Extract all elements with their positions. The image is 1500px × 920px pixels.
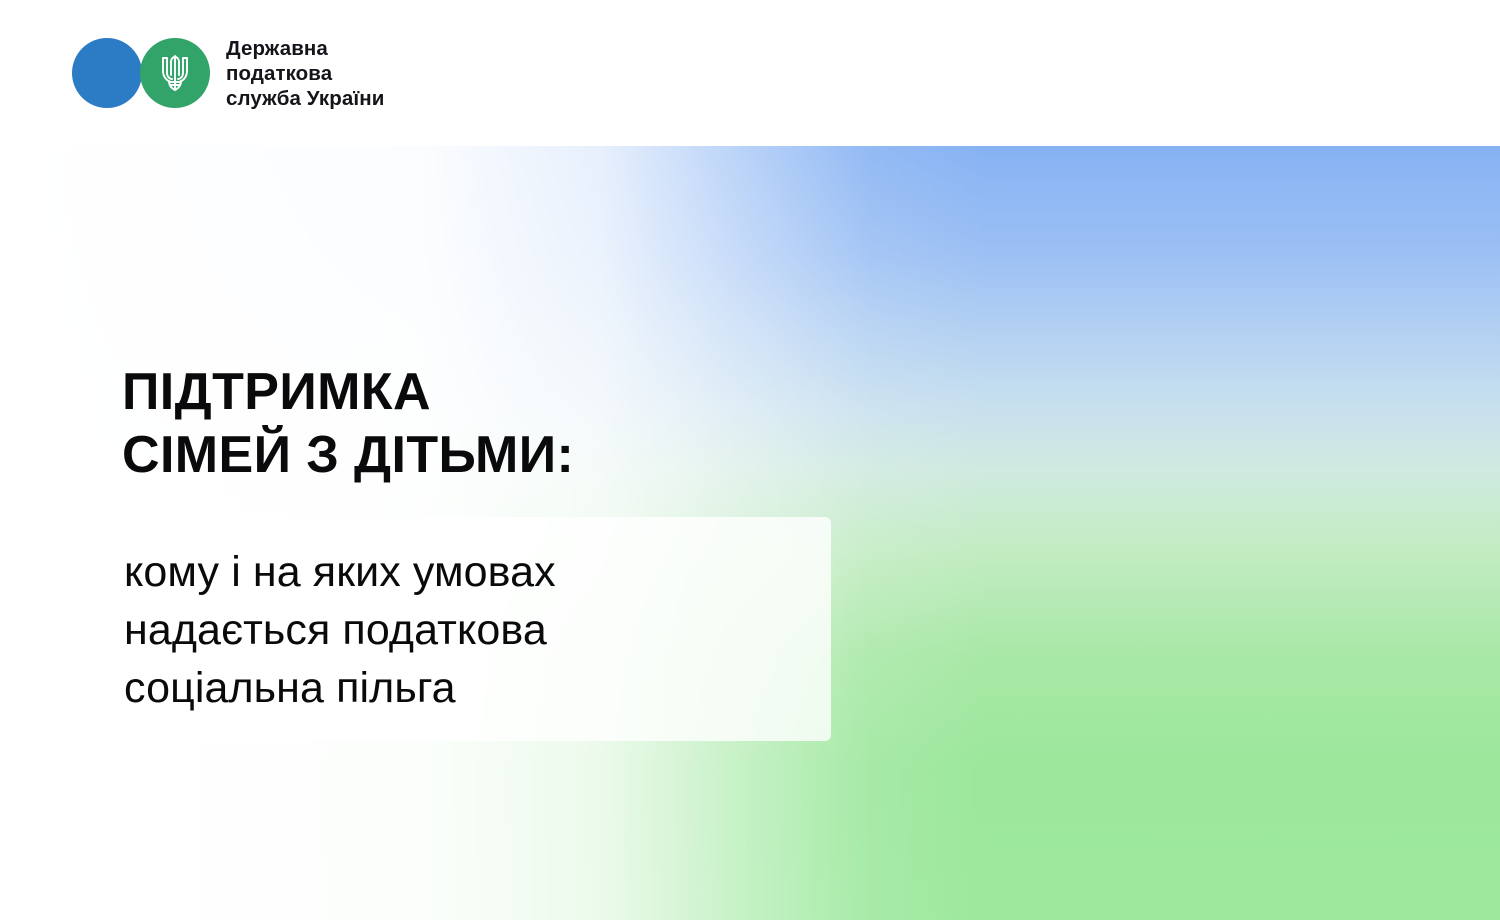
circle-blue-icon (72, 38, 142, 108)
logo-text: Державна податкова служба України (226, 36, 384, 111)
logo[interactable]: Державна податкова служба України (72, 36, 384, 110)
logo-marks (72, 38, 210, 108)
page-title: ПІДТРИМКА СІМЕЙ З ДІТЬМИ: (122, 361, 574, 487)
subtitle-card: кому і на яких умовах надається податков… (96, 517, 831, 741)
logo-text-line2: податкова (226, 61, 384, 86)
logo-text-line3: служба України (226, 86, 384, 111)
ukraine-trident-icon (140, 38, 210, 108)
site-header: Державна податкова служба України (0, 0, 1500, 146)
hero-copy: ПІДТРИМКА СІМЕЙ З ДІТЬМИ: кому і на яких… (0, 146, 1500, 920)
page-subtitle: кому і на яких умовах надається податков… (124, 543, 814, 717)
logo-text-line1: Державна (226, 36, 384, 61)
poster: ПІДТРИМКА СІМЕЙ З ДІТЬМИ: кому і на яких… (0, 0, 1500, 920)
